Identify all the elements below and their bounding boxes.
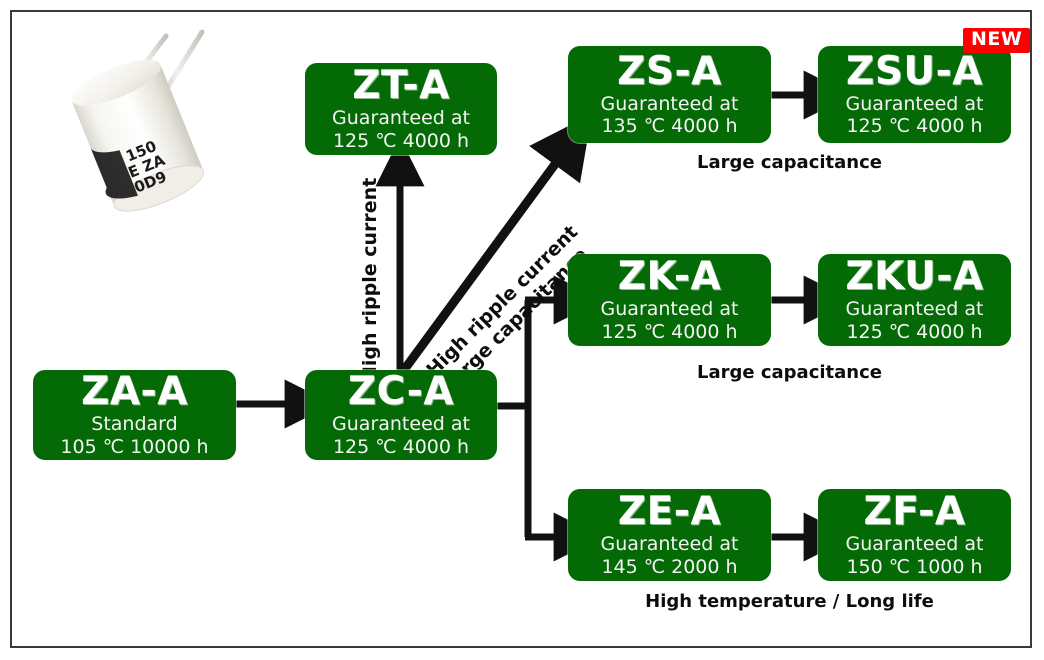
box-zt-a-title: ZT-A <box>352 66 450 105</box>
box-zk-a-sub-line1: Guaranteed at <box>601 298 739 320</box>
box-zk-a-subtitle: Guaranteed at 125 ℃ 4000 h <box>601 298 739 343</box>
box-za-a[interactable]: ZA-A Standard 105 ℃ 10000 h <box>33 370 236 460</box>
box-zku-a[interactable]: ZKU-A Guaranteed at 125 ℃ 4000 h <box>818 254 1011 346</box>
box-zf-a-subtitle: Guaranteed at 150 ℃ 1000 h <box>846 533 984 578</box>
box-zku-a-sub-line2: 125 ℃ 4000 h <box>846 321 984 343</box>
box-zku-a-subtitle: Guaranteed at 125 ℃ 4000 h <box>846 298 984 343</box>
box-ze-a-sub-line1: Guaranteed at <box>601 533 739 555</box>
box-zf-a-title: ZF-A <box>863 492 965 531</box>
box-zs-a-title: ZS-A <box>617 52 722 91</box>
capacitor-svg: 150 E ZA 0D9 <box>40 22 250 212</box>
status-badge-new: NEW <box>963 28 1030 53</box>
box-zsu-a-sub-line2: 125 ℃ 4000 h <box>846 115 984 137</box>
box-zf-a-sub-line1: Guaranteed at <box>846 533 984 555</box>
box-zsu-a-subtitle: Guaranteed at 125 ℃ 4000 h <box>846 93 984 138</box>
box-zt-a-sub-line2: 125 ℃ 4000 h <box>332 130 470 152</box>
box-zf-a[interactable]: ZF-A Guaranteed at 150 ℃ 1000 h <box>818 489 1011 581</box>
box-zt-a-subtitle: Guaranteed at 125 ℃ 4000 h <box>332 107 470 152</box>
caption-bottom-row: High temperature / Long life <box>568 591 1011 612</box>
caption-top-row: Large capacitance <box>568 152 1011 173</box>
box-zk-a-sub-line2: 125 ℃ 4000 h <box>601 321 739 343</box>
box-zc-a-title: ZC-A <box>348 372 454 411</box>
capacitor-body: 150 E ZA 0D9 <box>63 51 209 212</box>
box-zs-a-subtitle: Guaranteed at 135 ℃ 4000 h <box>601 93 739 138</box>
box-ze-a[interactable]: ZE-A Guaranteed at 145 ℃ 2000 h <box>568 489 771 581</box>
box-zsu-a-sub-line1: Guaranteed at <box>846 93 984 115</box>
arrow-label-high-ripple-current: High ripple current <box>359 178 381 382</box>
diagram-canvas: 150 E ZA 0D9 <box>0 0 1044 660</box>
box-zf-a-sub-line2: 150 ℃ 1000 h <box>846 556 984 578</box>
box-zs-a-sub-line1: Guaranteed at <box>601 93 739 115</box>
box-zc-a-sub-line1: Guaranteed at <box>332 413 470 435</box>
box-za-a-sub-line1: Standard <box>60 413 208 435</box>
box-ze-a-sub-line2: 145 ℃ 2000 h <box>601 556 739 578</box>
box-zc-a-subtitle: Guaranteed at 125 ℃ 4000 h <box>332 413 470 458</box>
box-zsu-a[interactable]: ZSU-A Guaranteed at 125 ℃ 4000 h <box>818 46 1011 143</box>
box-zt-a[interactable]: ZT-A Guaranteed at 125 ℃ 4000 h <box>305 63 497 155</box>
box-ze-a-subtitle: Guaranteed at 145 ℃ 2000 h <box>601 533 739 578</box>
box-zs-a[interactable]: ZS-A Guaranteed at 135 ℃ 4000 h <box>568 46 771 143</box>
box-zk-a[interactable]: ZK-A Guaranteed at 125 ℃ 4000 h <box>568 254 771 346</box>
box-zc-a-sub-line2: 125 ℃ 4000 h <box>332 436 470 458</box>
box-zt-a-sub-line1: Guaranteed at <box>332 107 470 129</box>
box-zsu-a-title: ZSU-A <box>846 52 983 91</box>
capacitor-photo: 150 E ZA 0D9 <box>40 22 250 212</box>
box-ze-a-title: ZE-A <box>618 492 721 531</box>
box-zk-a-title: ZK-A <box>618 257 721 296</box>
box-zku-a-sub-line1: Guaranteed at <box>846 298 984 320</box>
box-zs-a-sub-line2: 135 ℃ 4000 h <box>601 115 739 137</box>
box-zku-a-title: ZKU-A <box>845 257 983 296</box>
box-za-a-title: ZA-A <box>81 372 188 411</box>
box-zc-a[interactable]: ZC-A Guaranteed at 125 ℃ 4000 h <box>305 370 497 460</box>
caption-middle-row: Large capacitance <box>568 362 1011 383</box>
box-za-a-subtitle: Standard 105 ℃ 10000 h <box>60 413 208 458</box>
box-za-a-sub-line2: 105 ℃ 10000 h <box>60 436 208 458</box>
